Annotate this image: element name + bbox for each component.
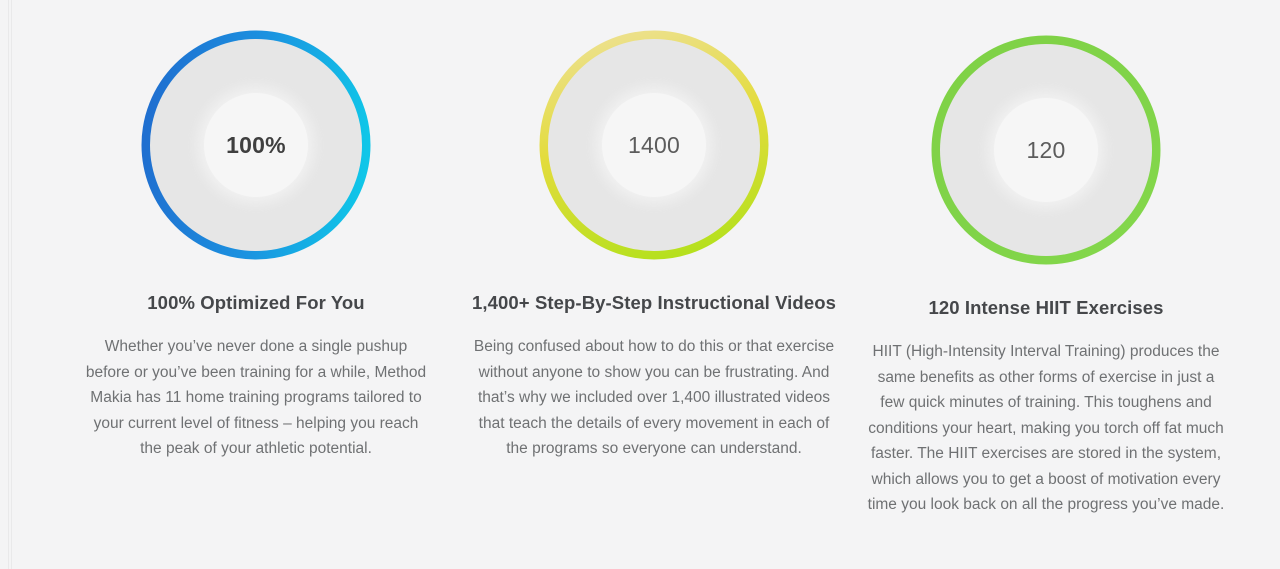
dial-value: 1400 <box>628 132 680 159</box>
dial-center: 1400 <box>602 93 706 197</box>
feature-card-hiit: 120 120 Intense HIIT Exercises HIIT (Hig… <box>848 5 1244 569</box>
feature-title: 1,400+ Step-By-Step Instructional Videos <box>472 292 836 314</box>
progress-dial-100-percent: 100% <box>141 30 371 260</box>
feature-title: 120 Intense HIIT Exercises <box>928 297 1163 319</box>
feature-description: Whether you’ve never done a single pushu… <box>81 334 431 462</box>
dial-value: 100% <box>226 132 286 159</box>
dial-center: 120 <box>994 98 1098 202</box>
feature-card-videos: 1400 1,400+ Step-By-Step Instructional V… <box>456 0 852 569</box>
feature-description: HIIT (High-Intensity Interval Training) … <box>866 339 1226 518</box>
feature-columns: 100% 100% Optimized For You Whether you’… <box>0 0 1280 569</box>
progress-dial-1400-videos: 1400 <box>539 30 769 260</box>
dial-value: 120 <box>1027 137 1066 164</box>
progress-dial-120-exercises: 120 <box>931 35 1161 265</box>
feature-card-optimized: 100% 100% Optimized For You Whether you’… <box>58 0 454 569</box>
feature-title: 100% Optimized For You <box>147 292 364 314</box>
feature-description: Being confused about how to do this or t… <box>470 334 838 462</box>
dial-center: 100% <box>204 93 308 197</box>
